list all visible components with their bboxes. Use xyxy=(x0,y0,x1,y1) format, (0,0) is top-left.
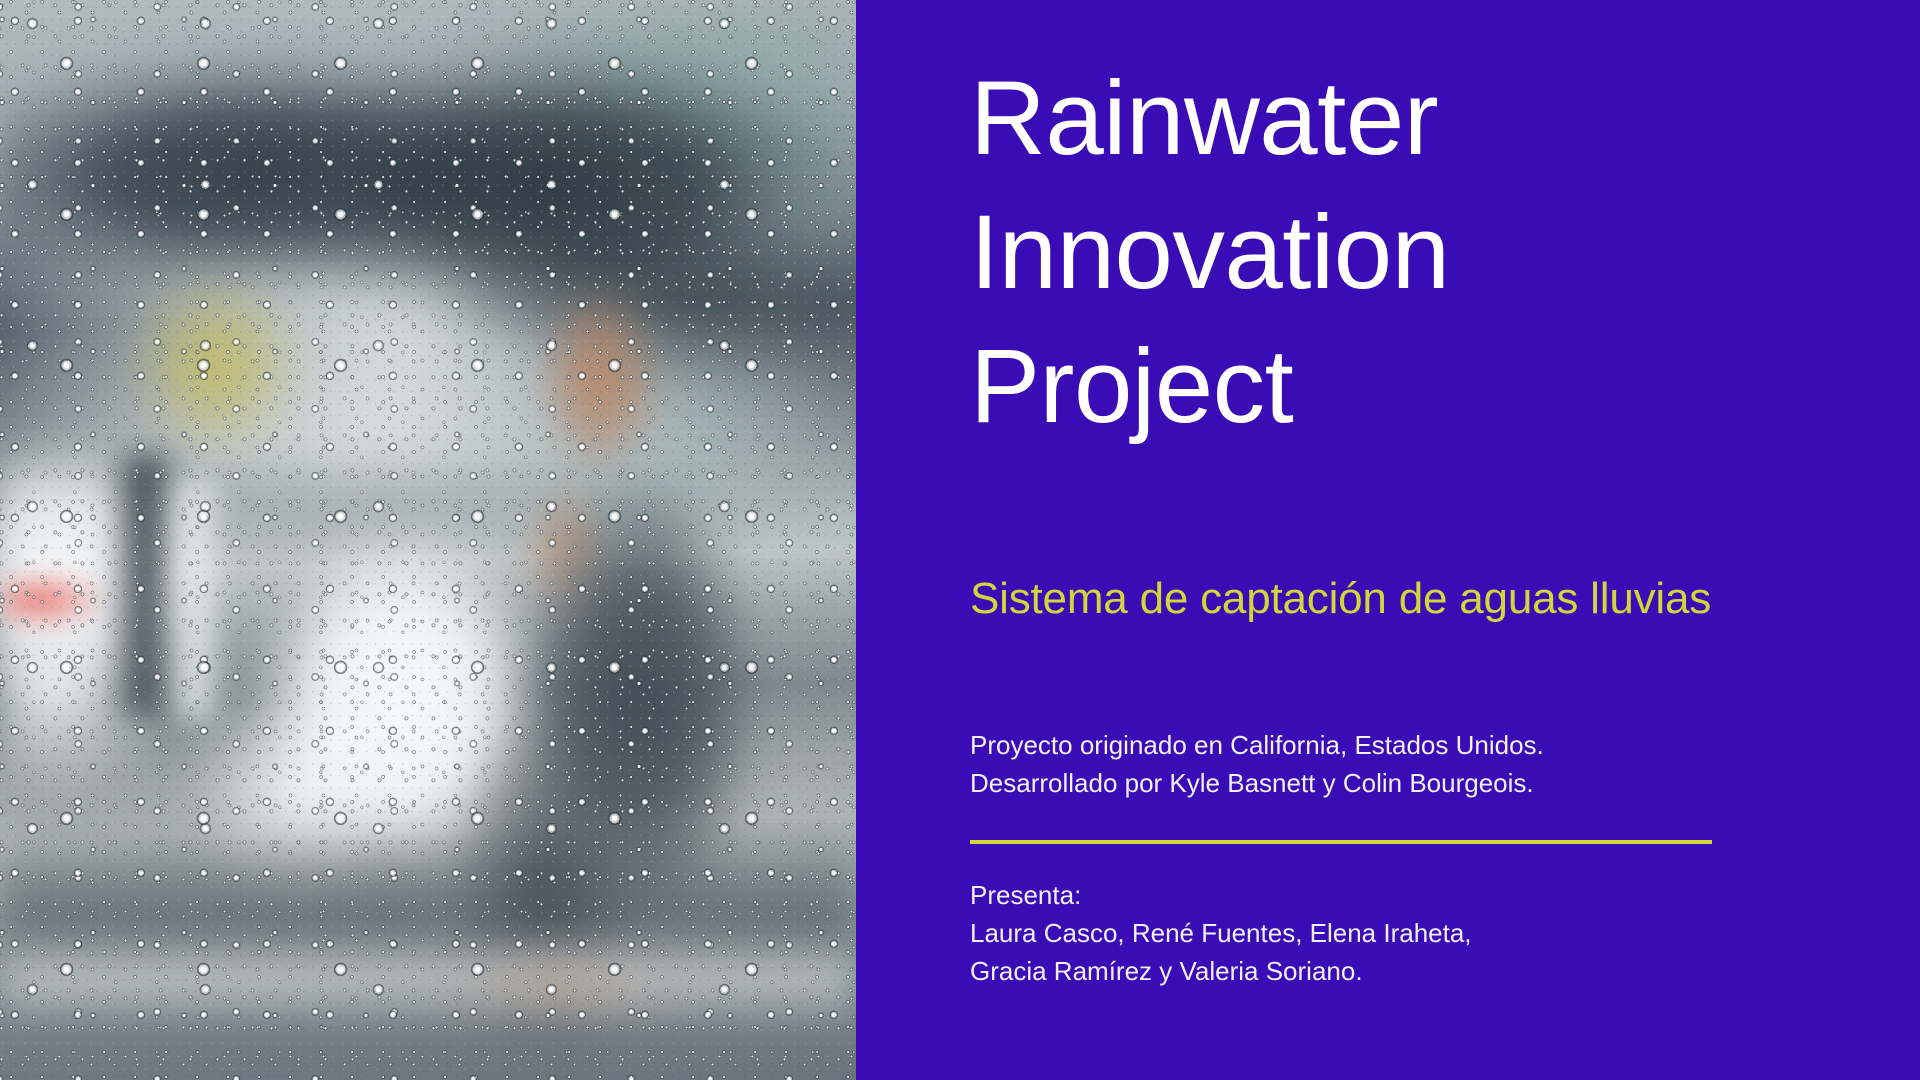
horizontal-divider xyxy=(970,840,1712,844)
title-slide: Rainwater Innovation Project Sistema de … xyxy=(0,0,1920,1080)
origin-line-2: Desarrollado por Kyle Basnett y Colin Bo… xyxy=(970,764,1730,802)
page-title: Rainwater Innovation Project xyxy=(970,52,1690,454)
rain-on-window-photo xyxy=(0,0,856,1080)
glass-grain-overlay xyxy=(0,0,856,1080)
title-line-1: Rainwater xyxy=(970,52,1690,186)
page-subtitle: Sistema de captación de aguas lluvias xyxy=(970,571,1711,627)
presenters-text: Presenta: Laura Casco, René Fuentes, Ele… xyxy=(970,876,1730,990)
text-panel: Rainwater Innovation Project Sistema de … xyxy=(856,0,1920,1080)
origin-line-1: Proyecto originado en California, Estado… xyxy=(970,726,1730,764)
presenters-line-2: Gracia Ramírez y Valeria Soriano. xyxy=(970,952,1730,990)
presenters-line-1: Laura Casco, René Fuentes, Elena Iraheta… xyxy=(970,914,1730,952)
presenters-label: Presenta: xyxy=(970,876,1730,914)
project-origin-text: Proyecto originado en California, Estado… xyxy=(970,726,1730,802)
title-line-2: Innovation xyxy=(970,186,1690,320)
title-line-3: Project xyxy=(970,320,1690,454)
